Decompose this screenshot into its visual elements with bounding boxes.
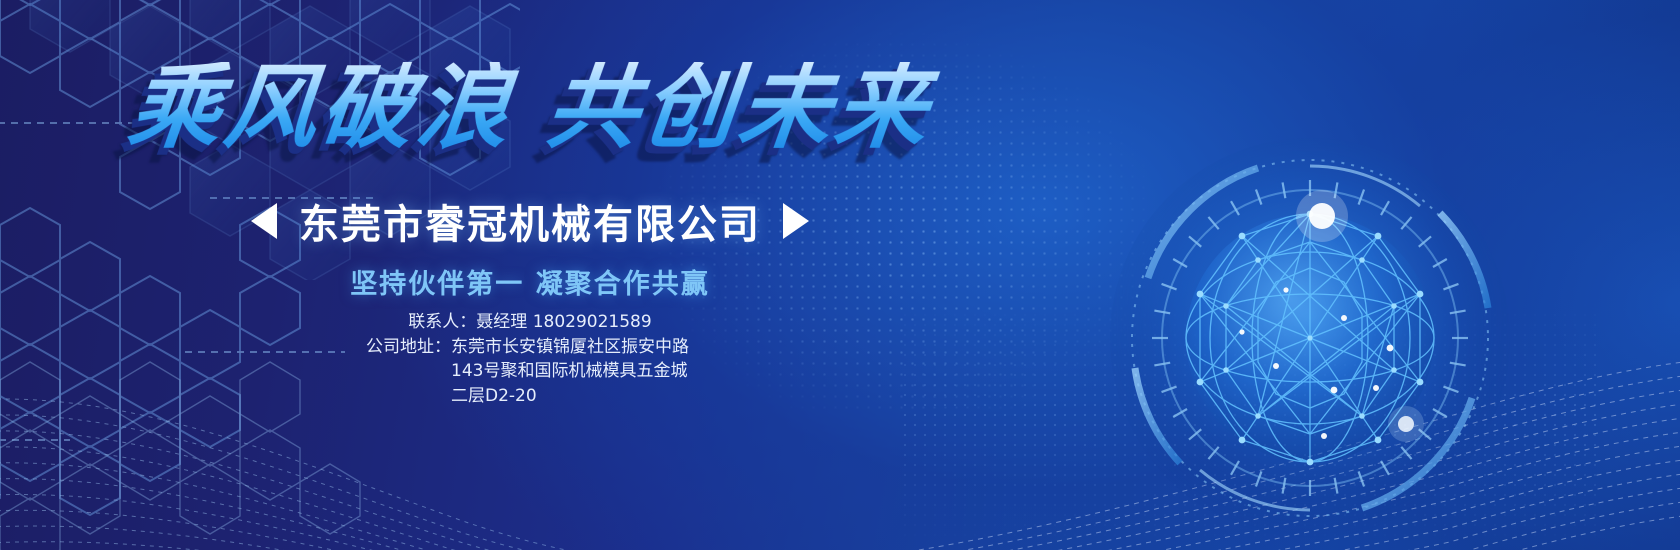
company-name: 东莞市睿冠机械有限公司	[299, 192, 761, 250]
headline-part-2: 共创未来	[541, 54, 936, 161]
contact-person-row: 联系人： 聂经理 18029021589	[408, 310, 651, 335]
company-address-label: 公司地址：	[366, 335, 451, 360]
headline-part-1: 乘风破浪	[123, 54, 518, 161]
wireframe-globe-graphic	[1090, 118, 1530, 550]
contact-person-value: 聂经理 18029021589	[476, 310, 651, 335]
right-triangle-icon	[783, 203, 809, 239]
headline: 乘风破浪共创未来	[0, 62, 1065, 154]
left-triangle-icon	[251, 203, 277, 239]
contact-person-label: 联系人：	[408, 310, 476, 335]
contact-block: 联系人： 聂经理 18029021589 公司地址： 东莞市长安镇锦厦社区振安中…	[0, 310, 1060, 409]
company-address-row: 公司地址： 东莞市长安镇锦厦社区振安中路143号聚和国际机械模具五金城二层D2-…	[366, 335, 694, 409]
banner-content: 乘风破浪共创未来 东莞市睿冠机械有限公司 坚持伙伴第一 凝聚合作共赢 联系人： …	[0, 0, 1060, 550]
company-name-row: 东莞市睿冠机械有限公司	[0, 192, 1060, 250]
promo-banner: 乘风破浪共创未来 东莞市睿冠机械有限公司 坚持伙伴第一 凝聚合作共赢 联系人： …	[0, 0, 1680, 550]
slogan: 坚持伙伴第一 凝聚合作共赢	[0, 262, 1060, 301]
company-address-value: 东莞市长安镇锦厦社区振安中路143号聚和国际机械模具五金城二层D2-20	[451, 335, 694, 409]
